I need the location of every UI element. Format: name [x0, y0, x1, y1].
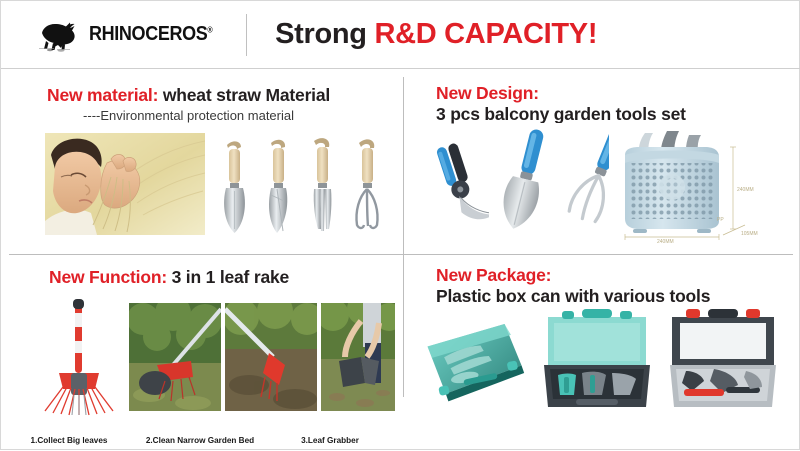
brand-name: RHINOCEROS® — [89, 23, 212, 46]
open-gray-tool-case-photo — [664, 303, 782, 413]
caddy-width-label: 240MM — [657, 239, 674, 243]
section-new-design: New Design: 3 pcs balcony garden tools s… — [404, 69, 800, 254]
caddy-height-label: 240MM — [737, 187, 754, 193]
new-function-value: 3 in 1 leaf rake — [167, 267, 289, 287]
header-divider — [246, 14, 247, 56]
caption-leaf-grabber: 3.Leaf Grabber — [275, 436, 385, 445]
registered-mark-icon: ® — [207, 25, 212, 34]
content-grid: New material: wheat straw Material ----E… — [1, 69, 800, 451]
marketing-slide: RHINOCEROS® Strong R&D CAPACITY! New mat… — [0, 0, 800, 450]
new-material-heading: New material: wheat straw Material — [47, 85, 330, 106]
new-material-label: New material: — [47, 85, 158, 105]
new-design-label: New Design: — [436, 83, 686, 104]
section-new-material: New material: wheat straw Material ----E… — [1, 69, 403, 254]
title-red-text: R&D CAPACITY! — [374, 18, 597, 50]
blue-trowel-photo — [489, 123, 569, 238]
closed-teal-tool-case-photo — [420, 317, 530, 409]
new-package-label: New Package: — [436, 265, 710, 286]
leaf-grabber-photo — [321, 303, 395, 411]
new-material-value: wheat straw Material — [158, 85, 330, 105]
clean-narrow-garden-bed-photo — [225, 303, 317, 411]
open-teal-tool-case-photo — [538, 303, 656, 413]
title-dark-text: Strong — [275, 18, 374, 50]
collect-big-leaves-photo — [129, 303, 221, 411]
section-new-package: New Package: Plastic box can with variou… — [404, 255, 800, 451]
page-title: Strong R&D CAPACITY! — [275, 18, 597, 51]
blue-pruner-photo — [426, 135, 496, 235]
caption-clean-narrow-garden-bed: 2.Clean Narrow Garden Bed — [125, 436, 275, 445]
new-function-heading: New Function: 3 in 1 leaf rake — [49, 267, 289, 288]
garden-caddy-basket-photo: 240MM 240MM 105MM PP — [609, 125, 794, 243]
section-new-function: New Function: 3 in 1 leaf rake — [1, 255, 403, 451]
rhinoceros-logo-icon — [35, 18, 87, 52]
wheat-straw-smelling-photo — [45, 133, 205, 235]
wheat-straw-handle-tools-photo — [213, 131, 398, 243]
new-design-value: 3 pcs balcony garden tools set — [436, 104, 686, 125]
caption-collect-big-leaves: 1.Collect Big leaves — [13, 436, 125, 445]
caddy-material-label: PP — [717, 217, 724, 223]
red-leaf-rake-product-photo — [29, 297, 129, 417]
slide-header: RHINOCEROS® Strong R&D CAPACITY! — [1, 1, 800, 69]
new-material-subtitle: ----Environmental protection material — [47, 108, 330, 123]
caddy-depth-label: 105MM — [741, 231, 758, 237]
brand-logo: RHINOCEROS® — [35, 18, 226, 52]
function-captions: 1.Collect Big leaves 2.Clean Narrow Gard… — [13, 436, 393, 445]
new-function-label: New Function: — [49, 267, 167, 287]
